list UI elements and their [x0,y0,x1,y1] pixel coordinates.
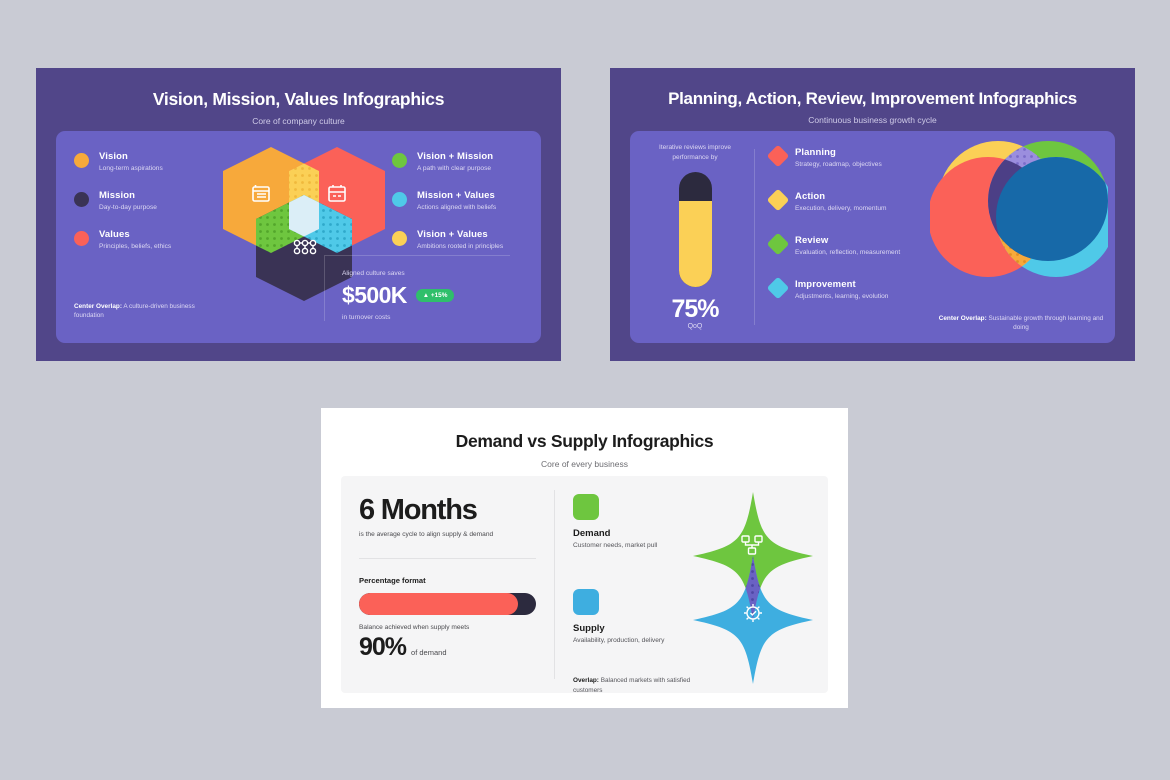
percentage-value: 90% [359,633,406,662]
legend-label: Mission + Values [417,190,552,201]
stat-caption: Aligned culture saves [342,270,510,277]
card1-panel: Vision Long-term aspirations Mission Day… [56,131,541,343]
legend-label: Values [99,229,194,240]
legend-label: Vision + Mission [417,151,552,162]
vision-mission-values-card: Vision, Mission, Values Infographics Cor… [36,68,561,361]
gauge-track [679,172,712,287]
stat-value: $500K [342,282,407,309]
gauge-fill [679,201,712,287]
legend-item-mission[interactable]: Mission Day-to-day purpose [74,190,194,211]
card2-panel: Iterative reviews improve performance by… [630,131,1115,343]
legend-item-mission-values[interactable]: Mission + Values Actions aligned with be… [392,190,552,211]
performance-gauge: Iterative reviews improve performance by… [640,143,750,330]
demand-vs-supply-card: Demand vs Supply Infographics Core of ev… [321,408,848,708]
legend-label: Planning [795,147,935,158]
legend-item-improvement[interactable]: Improvement Adjustments, learning, evolu… [770,279,935,300]
card2-subtitle: Continuous business growth cycle [610,109,1135,125]
stat-badge: ▲ +15% [416,289,455,302]
card3-horizontal-divider [359,558,536,559]
percentage-track [359,593,536,615]
card1-title: Vision, Mission, Values Infographics [36,68,561,110]
card2-legend: Planning Strategy, roadmap, objectives A… [770,147,935,318]
legend-item-vision-mission[interactable]: Vision + Mission A path with clear purpo… [392,151,552,172]
overlap-label: Overlap: [573,677,599,684]
card1-subtitle: Core of company culture [36,110,561,126]
card3-subtitle: Core of every business [321,452,848,469]
legend-dot-icon [74,192,89,207]
legend-item-vision-values[interactable]: Vision + Values Ambitions rooted in prin… [392,229,552,250]
percentage-format-label: Percentage format [359,576,536,585]
legend-item-demand[interactable]: Demand Customer needs, market pull [573,494,693,549]
card3-percentage-block: Percentage format Balance achieved when … [359,576,536,662]
card1-overlap-note: Center Overlap: A culture-driven busines… [74,302,224,321]
card2-title: Planning, Action, Review, Improvement In… [610,68,1135,109]
card2-divider [754,149,755,325]
legend-label: Review [795,235,935,246]
legend-desc: Availability, production, delivery [573,637,693,644]
legend-label: Vision + Values [417,229,552,240]
legend-desc: Actions aligned with beliefs [417,204,552,211]
percentage-caption: Balance achieved when supply meets [359,624,536,631]
circle-venn-diagram [930,139,1108,309]
legend-label: Supply [573,623,693,634]
gauge-value: 75% [640,295,750,324]
legend-dot-icon [74,153,89,168]
legend-desc: Adjustments, learning, evolution [795,293,935,300]
legend-item-planning[interactable]: Planning Strategy, roadmap, objectives [770,147,935,168]
four-point-star-diagram [686,484,821,694]
card3-cycle-stat: 6 Months is the average cycle to align s… [359,494,539,538]
stat-footer: in turnover costs [342,314,510,321]
legend-desc: Execution, delivery, momentum [795,205,935,212]
cycle-value: 6 Months [359,494,539,527]
card2-overlap-note: Center Overlap: Sustainable growth throu… [935,314,1107,333]
legend-label: Action [795,191,935,202]
legend-desc: Strategy, roadmap, objectives [795,161,935,168]
card1-legend-right: Vision + Mission A path with clear purpo… [392,151,552,268]
legend-label: Vision [99,151,194,162]
card1-stat-box: Aligned culture saves $500K ▲ +15% in tu… [324,255,510,321]
legend-item-values[interactable]: Values Principles, beliefs, ethics [74,229,194,250]
gauge-unit: QoQ [640,323,750,330]
legend-desc: A path with clear purpose [417,165,552,172]
legend-item-review[interactable]: Review Evaluation, reflection, measureme… [770,235,935,256]
gauge-caption: Iterative reviews improve performance by [640,143,750,163]
card3-title: Demand vs Supply Infographics [321,408,848,452]
percentage-suffix: of demand [411,648,446,657]
legend-desc: Customer needs, market pull [573,542,693,549]
supply-swatch-icon [573,589,599,615]
legend-item-supply[interactable]: Supply Availability, production, deliver… [573,589,693,644]
percentage-fill [359,593,518,615]
legend-item-action[interactable]: Action Execution, delivery, momentum [770,191,935,212]
legend-desc: Principles, beliefs, ethics [99,243,194,250]
demand-swatch-icon [573,494,599,520]
legend-dot-icon [74,231,89,246]
card1-legend-left: Vision Long-term aspirations Mission Day… [74,151,194,268]
legend-desc: Ambitions rooted in principles [417,243,552,250]
card3-panel: 6 Months is the average cycle to align s… [341,476,828,693]
overlap-text: Sustainable growth through learning and … [987,315,1104,332]
overlap-label: Center Overlap: [74,303,122,310]
legend-label: Demand [573,528,693,539]
legend-label: Mission [99,190,194,201]
legend-desc: Evaluation, reflection, measurement [795,249,935,256]
legend-desc: Day-to-day purpose [99,204,194,211]
legend-desc: Long-term aspirations [99,165,194,172]
legend-label: Improvement [795,279,935,290]
card3-overlap-note: Overlap: Balanced markets with satisfied… [573,676,693,696]
overlap-label: Center Overlap: [939,315,987,322]
planning-action-review-card: Planning, Action, Review, Improvement In… [610,68,1135,361]
legend-item-vision[interactable]: Vision Long-term aspirations [74,151,194,172]
cycle-caption: is the average cycle to align supply & d… [359,531,539,538]
card3-vertical-divider [554,490,555,679]
